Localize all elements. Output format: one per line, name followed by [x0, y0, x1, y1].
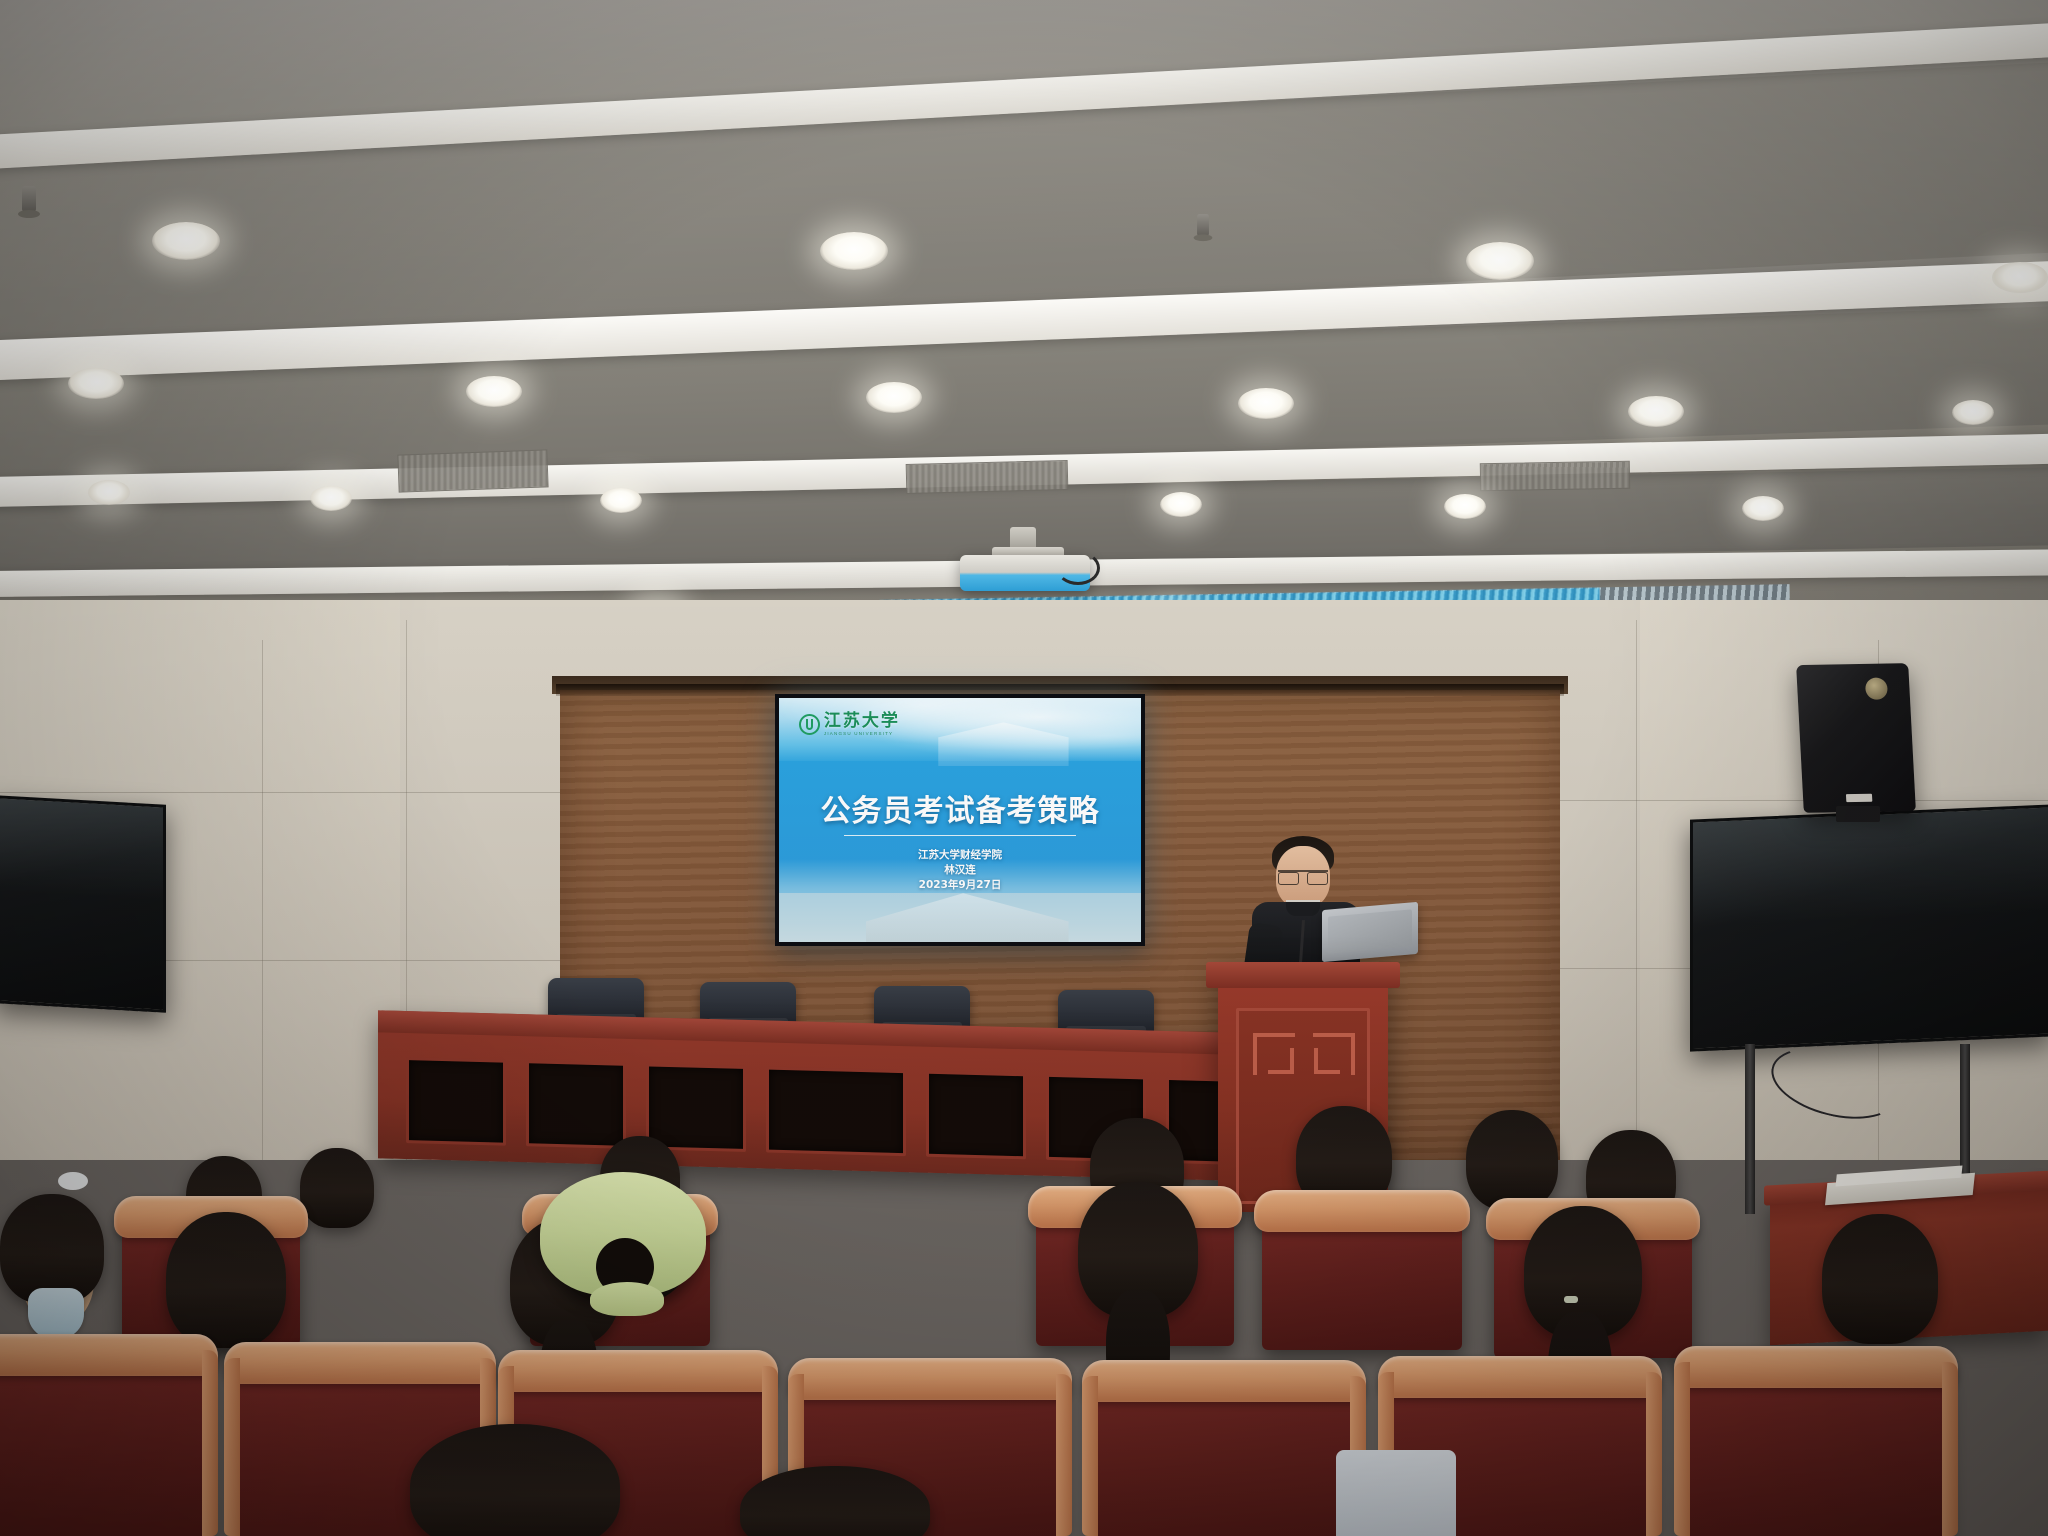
ceiling-projector [960, 545, 1090, 605]
recessed-downlight [1238, 388, 1294, 419]
speaker-brand-badge [1846, 794, 1872, 802]
air-vent [906, 460, 1069, 494]
seat-armrest [1646, 1372, 1662, 1536]
seat-armrest [202, 1350, 218, 1536]
university-emblem-icon [799, 714, 820, 735]
air-vent [397, 449, 548, 492]
recessed-downlight [1444, 494, 1486, 519]
screen-reflection [0, 798, 163, 900]
table-panel-insert [646, 1063, 746, 1152]
recessed-downlight [68, 368, 124, 399]
seat-armrest [1674, 1362, 1690, 1536]
air-vent [1480, 461, 1630, 492]
seat-armrest [224, 1358, 240, 1536]
slide-subtitle-org: 江苏大学财经学院 [779, 848, 1141, 863]
table-panel-insert [766, 1067, 906, 1157]
recessed-downlight [820, 232, 888, 270]
greek-key-ornament [1253, 1033, 1295, 1075]
display-stand [1745, 1044, 1755, 1214]
seat-armrest [1082, 1376, 1098, 1536]
presenter-collar [1286, 900, 1320, 916]
recessed-downlight [1952, 400, 1994, 425]
audience-seat[interactable] [1090, 1370, 1358, 1536]
recessed-downlight [600, 488, 642, 513]
seat-armrest [1056, 1374, 1072, 1536]
screen-reflection [1693, 808, 2048, 927]
university-name-en: JIANGSU UNIVERSITY [824, 732, 900, 737]
seat-backrest-trim [1674, 1346, 1958, 1388]
seat-backrest-trim [1254, 1190, 1470, 1232]
podium-top-surface [1206, 962, 1400, 988]
wall-seam [1540, 800, 2048, 801]
wall-seam [0, 792, 580, 793]
recessed-downlight [1628, 396, 1684, 427]
speaker-mount-bracket [1836, 806, 1880, 822]
seat-backrest-trim [0, 1334, 218, 1376]
hair-bow [58, 1172, 88, 1190]
left-wall-display[interactable] [0, 795, 166, 1013]
audience-shirt [1336, 1450, 1456, 1536]
slide-footer-structure [866, 893, 1069, 942]
recessed-downlight [1160, 492, 1202, 517]
recessed-downlight [310, 486, 352, 511]
speaker-port-icon [1865, 677, 1888, 699]
slide-subtitle-date: 2023年9月27日 [779, 878, 1141, 893]
presenter-laptop[interactable] [1322, 902, 1418, 962]
display-stand [1960, 1044, 1970, 1174]
seat-backrest-trim [1082, 1360, 1366, 1402]
hair-tie [1564, 1296, 1578, 1303]
audience-seat[interactable] [1262, 1200, 1462, 1350]
audience-seat[interactable] [1682, 1356, 1950, 1536]
recessed-downlight [1466, 242, 1534, 280]
table-panel-insert [406, 1057, 506, 1146]
wall-seam [1636, 620, 1637, 1160]
wall-seam [262, 640, 263, 1160]
projector-cable [1056, 551, 1100, 585]
seat-backrest-trim [224, 1342, 496, 1384]
audience-head [166, 1212, 286, 1348]
fire-sprinkler-icon [22, 186, 36, 212]
audience-seat[interactable] [0, 1344, 210, 1536]
table-panel-insert [926, 1071, 1026, 1160]
seat-armrest [1942, 1362, 1958, 1536]
audience-head [300, 1148, 374, 1228]
audience-head [1466, 1110, 1558, 1210]
fire-sprinkler-icon [1197, 214, 1209, 236]
recessed-downlight [1742, 496, 1784, 521]
recessed-downlight [1992, 262, 2048, 293]
table-panel-insert [526, 1060, 626, 1149]
university-name-cn: 江苏大学 [824, 713, 900, 730]
wall-speaker [1796, 663, 1916, 813]
projection-screen[interactable]: 江苏大学 JIANGSU UNIVERSITY 公务员考试备考策略 江苏大学财经… [775, 694, 1145, 946]
greek-key-ornament [1313, 1033, 1355, 1075]
slide-subtitle: 江苏大学财经学院 林汉连 2023年9月27日 [779, 848, 1141, 894]
university-logo: 江苏大学 JIANGSU UNIVERSITY [799, 713, 900, 737]
recessed-downlight [466, 376, 522, 407]
slide-subtitle-name: 林汉连 [779, 863, 1141, 878]
seat-backrest-trim [498, 1350, 778, 1392]
slide-title-underline [844, 835, 1076, 837]
cap-knot [590, 1282, 664, 1316]
slide-footer-image [779, 893, 1141, 942]
seat-backrest-trim [1378, 1356, 1662, 1398]
slide-title: 公务员考试备考策略 [779, 786, 1141, 830]
university-logo-text: 江苏大学 JIANGSU UNIVERSITY [824, 713, 900, 737]
right-wall-display[interactable] [1690, 804, 2048, 1051]
audience-head [410, 1424, 620, 1536]
recessed-downlight [866, 382, 922, 413]
lecture-hall-scene: 江苏大学 JIANGSU UNIVERSITY 公务员考试备考策略 江苏大学财经… [0, 0, 2048, 1536]
audience-head [1822, 1214, 1938, 1344]
recessed-downlight [88, 480, 130, 505]
recessed-downlight [152, 222, 220, 260]
face-mask [28, 1288, 84, 1340]
eyeglasses-icon [1278, 870, 1328, 881]
seat-backrest-trim [788, 1358, 1072, 1400]
presentation-slide: 江苏大学 JIANGSU UNIVERSITY 公务员考试备考策略 江苏大学财经… [779, 698, 1141, 942]
